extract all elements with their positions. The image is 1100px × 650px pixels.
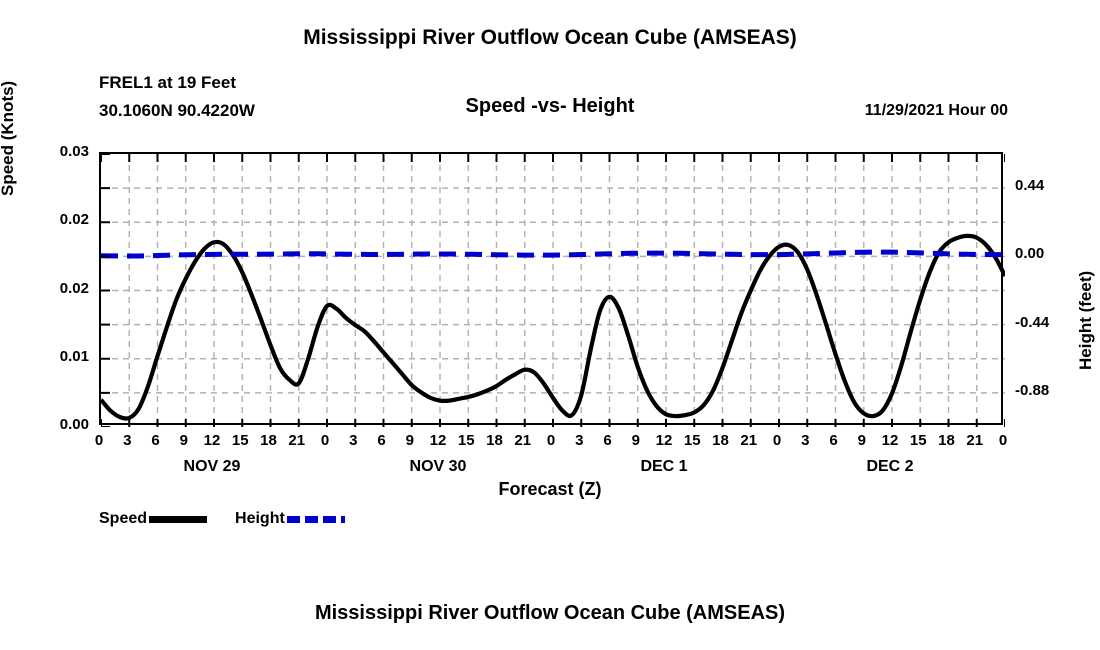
y-axis-left-tick-label: 0.02 [29,211,89,228]
page-title: Mississippi River Outflow Ocean Cube (AM… [0,26,1100,50]
x-axis-tick-label: 0 [84,432,114,449]
x-axis-tick-label: 15 [225,432,255,449]
y-axis-right-tick-label: -0.88 [1015,382,1085,399]
y-axis-left-tick-label: 0.00 [29,416,89,433]
x-axis-tick-label: 15 [677,432,707,449]
x-axis-tick-label: 12 [649,432,679,449]
x-axis-tick-label: 9 [847,432,877,449]
chart-legend: Speed Height [99,508,345,530]
x-axis-tick-label: 18 [254,432,284,449]
series-line-height [101,252,1005,256]
x-axis-tick-label: 3 [112,432,142,449]
chart-canvas [101,154,1005,427]
x-axis-tick-label: 3 [338,432,368,449]
y-axis-right-tick-label: 0.00 [1015,245,1085,262]
y-axis-left-tick-label: 0.01 [29,348,89,365]
x-axis-tick-label: 18 [932,432,962,449]
y-axis-right-tick-label: 0.44 [1015,177,1085,194]
x-axis-tick-label: 18 [706,432,736,449]
x-axis-day-label: DEC 2 [820,458,960,476]
x-axis-tick-label: 21 [508,432,538,449]
x-axis-title: Forecast (Z) [0,479,1100,500]
model-run-timestamp: 11/29/2021 Hour 00 [865,102,1008,120]
legend-label-speed: Speed [99,510,147,528]
x-axis-tick-label: 6 [593,432,623,449]
x-axis-tick-label: 21 [960,432,990,449]
x-axis-tick-label: 15 [903,432,933,449]
x-axis-tick-label: 18 [480,432,510,449]
x-axis-tick-label: 12 [197,432,227,449]
x-axis-tick-label: 12 [875,432,905,449]
x-axis-tick-label: 15 [451,432,481,449]
x-axis-tick-label: 0 [988,432,1018,449]
x-axis-tick-label: 9 [395,432,425,449]
x-axis-day-label: DEC 1 [594,458,734,476]
legend-swatch-speed-icon [149,516,207,523]
x-axis-tick-label: 3 [790,432,820,449]
x-axis-tick-label: 21 [734,432,764,449]
legend-entry-speed: Speed [99,510,235,528]
plot-area [99,152,1003,425]
x-axis-tick-label: 12 [423,432,453,449]
legend-swatch-height-icon [287,516,345,523]
x-axis-tick-label: 0 [762,432,792,449]
footer-title: Mississippi River Outflow Ocean Cube (AM… [0,602,1100,625]
y-axis-left-tick-label: 0.02 [29,280,89,297]
x-axis-tick-label: 0 [536,432,566,449]
x-axis-tick-label: 3 [564,432,594,449]
x-axis-tick-label: 21 [282,432,312,449]
x-axis-tick-label: 6 [367,432,397,449]
y-axis-left-title: Speed (Knots) [0,81,18,196]
legend-entry-height: Height [235,510,345,528]
x-axis-tick-label: 6 [819,432,849,449]
x-axis-tick-label: 6 [141,432,171,449]
y-axis-left-tick-label: 0.03 [29,143,89,160]
x-axis-tick-label: 0 [310,432,340,449]
x-axis-tick-label: 9 [169,432,199,449]
y-axis-right-tick-label: -0.44 [1015,314,1085,331]
station-name-depth: FREL1 at 19 Feet [99,73,236,93]
x-axis-tick-label: 9 [621,432,651,449]
grid-lines [101,154,1005,427]
x-axis-day-label: NOV 29 [142,458,282,476]
legend-label-height: Height [235,510,285,528]
series-line-speed [101,236,1005,419]
x-axis-day-label: NOV 30 [368,458,508,476]
